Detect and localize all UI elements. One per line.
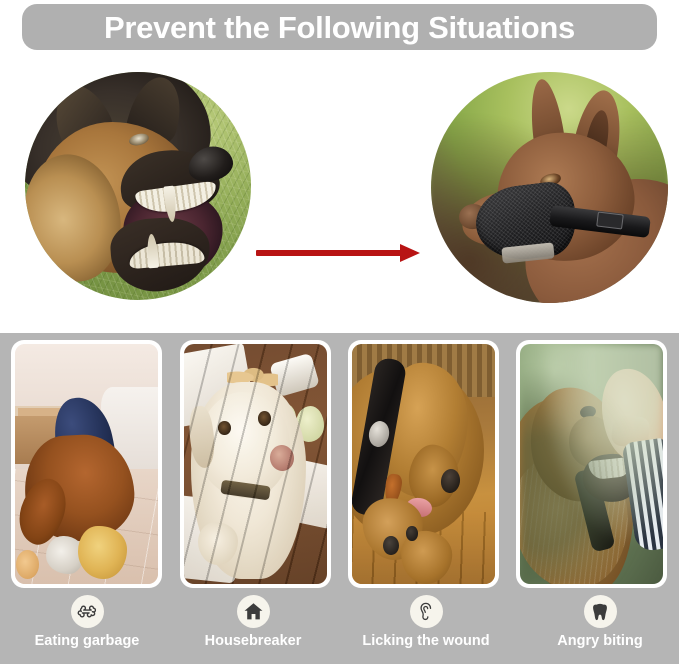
after-photo-image [431, 72, 668, 303]
food-scraps [78, 526, 127, 579]
situation-cards: Eating garbage Housebreaker [0, 333, 679, 664]
before-photo [25, 72, 251, 300]
arrow-head-icon [400, 244, 420, 262]
situations-panel: Eating garbage Housebreaker [0, 333, 679, 664]
poster-root: Prevent the Following Situations [0, 0, 679, 664]
feature-angry-biting: Angry biting [515, 595, 679, 661]
labrador-ear [185, 405, 218, 470]
transition-arrow [256, 244, 422, 262]
before-photo-image [25, 72, 251, 300]
licking-wound-photo [352, 344, 495, 584]
wood-floor-scene [184, 344, 327, 584]
feature-label: Housebreaker [205, 634, 302, 649]
labrador-paw [198, 522, 238, 565]
eating-garbage-photo [15, 344, 158, 584]
feature-label: Licking the wound [362, 634, 489, 649]
labrador-collar [220, 480, 270, 501]
muzzle-buckle [596, 211, 623, 229]
dog-fur [520, 450, 634, 584]
arrow-shaft [256, 250, 404, 256]
human-fingers [610, 414, 650, 449]
licking-scene [352, 344, 495, 584]
page-title: Prevent the Following Situations [104, 12, 575, 43]
bone-icon [71, 595, 104, 628]
biting-scene [520, 344, 663, 584]
tooth-icon [584, 595, 617, 628]
labrador-head [198, 392, 290, 498]
feature-label: Angry biting [557, 634, 642, 649]
debris-b [296, 406, 325, 442]
feature-eating-garbage: Eating garbage [2, 595, 172, 661]
crumbs [227, 363, 278, 392]
angry-biting-photo [520, 344, 663, 584]
house-icon [237, 595, 270, 628]
debris-a [267, 402, 296, 436]
kitchen-scene [15, 344, 158, 584]
situation-card [348, 340, 499, 588]
paw-pad-small [406, 526, 417, 540]
torn-paper-b [247, 451, 327, 529]
ear-icon [410, 595, 443, 628]
situation-card [11, 340, 162, 588]
human-hand [594, 363, 663, 470]
labrador-eye-right [258, 411, 271, 425]
feature-housebreaker: Housebreaker [168, 595, 338, 661]
dog-mouth [581, 452, 643, 506]
housebreaker-photo [184, 344, 327, 584]
dog-collar [573, 467, 615, 552]
dog-body [520, 391, 644, 584]
before-after-section: Before After [0, 56, 679, 332]
situation-card [180, 340, 331, 588]
paper-roll [269, 353, 319, 397]
torn-paper-a [184, 344, 255, 427]
dog-eye [579, 405, 597, 420]
after-photo [431, 72, 668, 303]
labrador-eye-left [218, 421, 231, 435]
torn-paper-c [184, 494, 242, 583]
dog-head [524, 382, 628, 508]
dog-snout [564, 412, 620, 473]
feature-label: Eating garbage [35, 634, 140, 649]
header-banner: Prevent the Following Situations [22, 4, 657, 50]
dog-teeth [588, 457, 633, 481]
labrador-body [191, 382, 305, 579]
situation-card [516, 340, 667, 588]
plaid-sleeve [621, 438, 663, 553]
labrador-nose [268, 443, 296, 473]
feature-licking-the-wound: Licking the wound [341, 595, 511, 661]
